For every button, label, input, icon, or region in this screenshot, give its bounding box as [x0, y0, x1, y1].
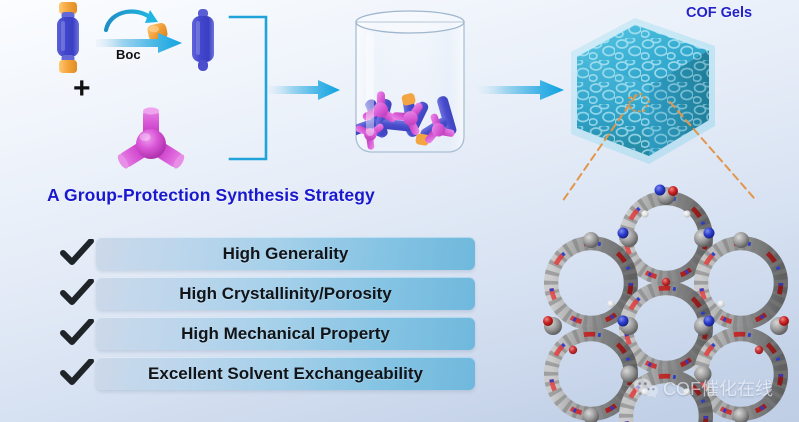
feature-row-3: High Mechanical Property — [60, 317, 475, 350]
boc-label: Boc — [116, 47, 141, 62]
plus-sign: + — [73, 74, 91, 104]
monomer-group-bracket — [228, 14, 272, 162]
check-icon — [60, 239, 94, 268]
feature-row-4: Excellent Solvent Exchangeability — [60, 357, 475, 390]
feature-row-2: High Crystallinity/Porosity — [60, 277, 475, 310]
feature-label: Excellent Solvent Exchangeability — [96, 357, 475, 390]
deprotected-linker-monomer — [188, 8, 218, 80]
feature-label: High Mechanical Property — [96, 317, 475, 350]
reaction-beaker — [340, 6, 480, 166]
check-icon — [60, 359, 94, 388]
mixing-arrow — [268, 79, 340, 101]
feature-row-1: High Generality — [60, 237, 475, 270]
figure-canvas: Boc + — [0, 0, 799, 422]
page-title: A Group-Protection Synthesis Strategy — [47, 185, 375, 206]
watermark-text: COF催化在线 — [663, 375, 773, 401]
feature-label: High Crystallinity/Porosity — [96, 277, 475, 310]
protected-linker-monomer — [44, 0, 92, 76]
watermark: COF催化在线 — [633, 375, 773, 401]
check-icon — [60, 319, 94, 348]
tripodal-node-monomer — [110, 104, 190, 176]
feature-label: High Generality — [96, 237, 475, 270]
check-icon — [60, 279, 94, 308]
wechat-icon — [633, 377, 659, 399]
